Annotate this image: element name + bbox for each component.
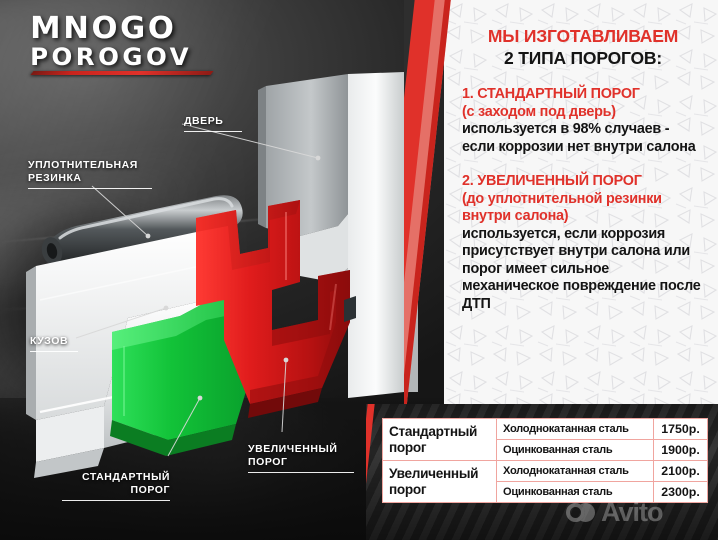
section-1-subtitle: (с заходом под дверь): [462, 104, 704, 122]
avito-logo-icon: [566, 503, 585, 522]
panel-heading-red: МЫ ИЗГОТАВЛИВАЕМ: [462, 26, 704, 47]
callout-label-extended-sill-text: УВЕЛИЧЕННЫЙ ПОРОГ: [248, 443, 337, 468]
section-2-body: используется, если коррозия присутствует…: [462, 226, 704, 314]
callout-label-seal-text: УПЛОТНИТЕЛЬНАЯ РЕЗИНКА: [28, 159, 138, 184]
callout-label-standard-sill-text: СТАНДАРТНЫЙ ПОРОГ: [82, 471, 170, 496]
callout-label-seal: УПЛОТНИТЕЛЬНАЯ РЕЗИНКА: [28, 146, 152, 202]
price-material: Холоднокатанная сталь: [497, 461, 654, 482]
callout-underline: [62, 500, 170, 501]
callout-label-extended-sill: УВЕЛИЧЕННЫЙ ПОРОГ: [248, 430, 354, 486]
section-1-body: используется в 98% случаев - если корроз…: [462, 121, 704, 156]
price-value: 1750р.: [654, 419, 708, 440]
price-material: Холоднокатанная сталь: [497, 419, 654, 440]
panel-heading-black: 2 ТИПА ПОРОГОВ:: [462, 47, 704, 69]
price-value: 2100р.: [654, 461, 708, 482]
avito-watermark: Avito: [566, 484, 718, 540]
callout-underline: [184, 131, 242, 132]
callout-underline: [248, 472, 354, 473]
callout-underline: [28, 188, 152, 189]
table-row: Увеличенный порог Холоднокатанная сталь …: [383, 461, 708, 482]
section-standard-sill: 1. СТАНДАРТНЫЙ ПОРОГ (с заходом под двер…: [462, 86, 704, 156]
logo-line-1: MNOGO: [30, 14, 224, 44]
section-2-title: 2. УВЕЛИЧЕННЫЙ ПОРОГ: [462, 173, 704, 191]
brand-logo: MNOGO POROGOV: [32, 14, 222, 75]
callout-label-standard-sill: СТАНДАРТНЫЙ ПОРОГ: [62, 458, 170, 514]
price-type-standard: Стандартный порог: [383, 419, 497, 461]
table-row: Стандартный порог Холоднокатанная сталь …: [383, 419, 708, 440]
price-value: 1900р.: [654, 440, 708, 461]
advertisement-image: ДВЕРЬ УПЛОТНИТЕЛЬНАЯ РЕЗИНКА КУЗОВ СТАНД…: [0, 0, 718, 540]
avito-watermark-text: Avito: [601, 497, 663, 528]
callout-label-body-text: КУЗОВ: [30, 335, 68, 347]
price-type-extended: Увеличенный порог: [383, 461, 497, 503]
callout-label-door-text: ДВЕРЬ: [184, 115, 223, 127]
section-1-title: 1. СТАНДАРТНЫЙ ПОРОГ: [462, 86, 704, 104]
section-2-subtitle: (до уплотнительной резинки внутри салона…: [462, 191, 704, 226]
price-material: Оцинкованная сталь: [497, 440, 654, 461]
callout-label-body: КУЗОВ: [30, 322, 78, 365]
section-extended-sill: 2. УВЕЛИЧЕННЫЙ ПОРОГ (до уплотнительной …: [462, 173, 704, 313]
callout-label-door: ДВЕРЬ: [184, 102, 242, 145]
logo-accent-bar: [30, 71, 213, 75]
logo-line-2: POROGOV: [30, 45, 224, 69]
callout-underline: [30, 351, 78, 352]
